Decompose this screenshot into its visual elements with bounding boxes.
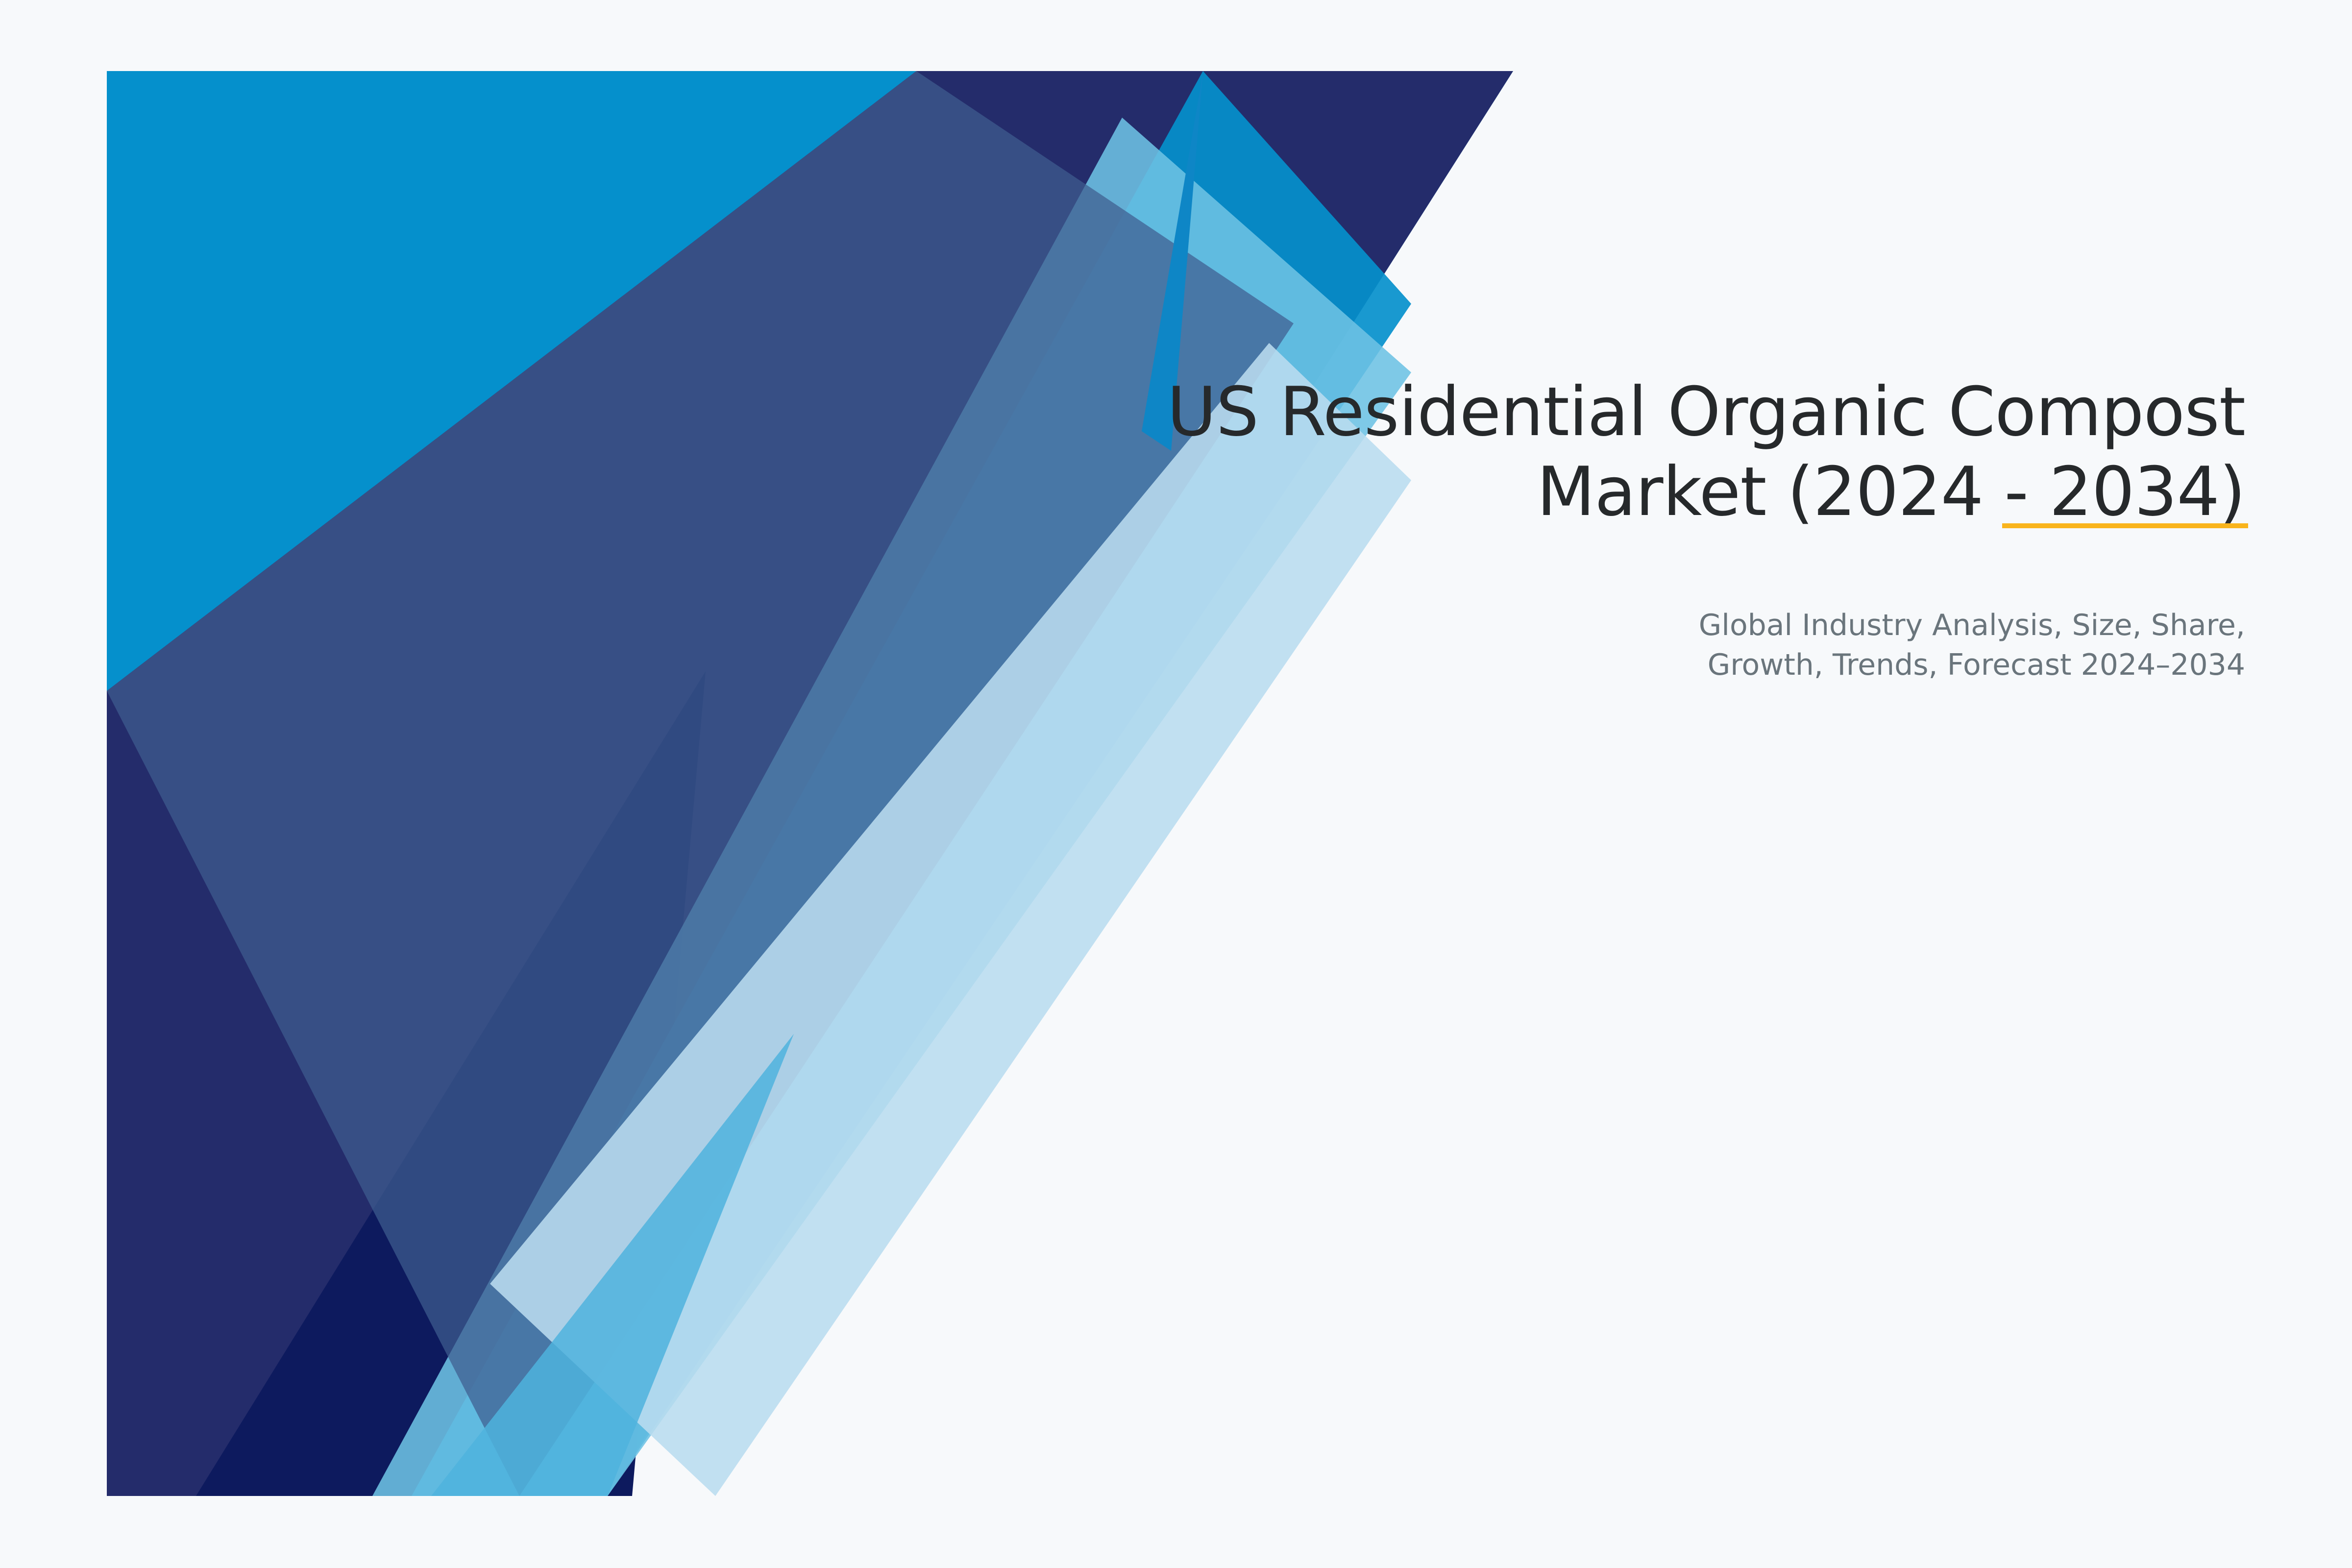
abstract-geometric-artwork — [0, 0, 2352, 1568]
report-cover-page: US Residential Organic Compost Market (2… — [0, 0, 2352, 1568]
shape-navy-upper — [107, 71, 1513, 1496]
page-title: US Residential Organic Compost — [971, 372, 2245, 452]
shape-cyan-base — [107, 71, 1513, 1496]
page-subtitle: Global Industry Analysis, Size, Share, — [971, 606, 2245, 645]
page-subtitle-line-2: Growth, Trends, Forecast 2024–2034 — [971, 645, 2245, 685]
title-accent-underline — [2002, 523, 2248, 528]
cover-text-block: US Residential Organic Compost Market (2… — [971, 372, 2245, 685]
shape-deep-navy-wedge — [196, 671, 706, 1496]
shape-mid-blue-accent — [431, 1034, 794, 1496]
artwork-svg — [0, 0, 2352, 1568]
shape-light-blue-beam — [372, 118, 1411, 1496]
shape-slate-quad — [107, 71, 1294, 1496]
shape-sky-blue-spike — [412, 71, 1411, 1496]
page-title-line-2: Market (2024 - 2034) — [971, 452, 2245, 532]
